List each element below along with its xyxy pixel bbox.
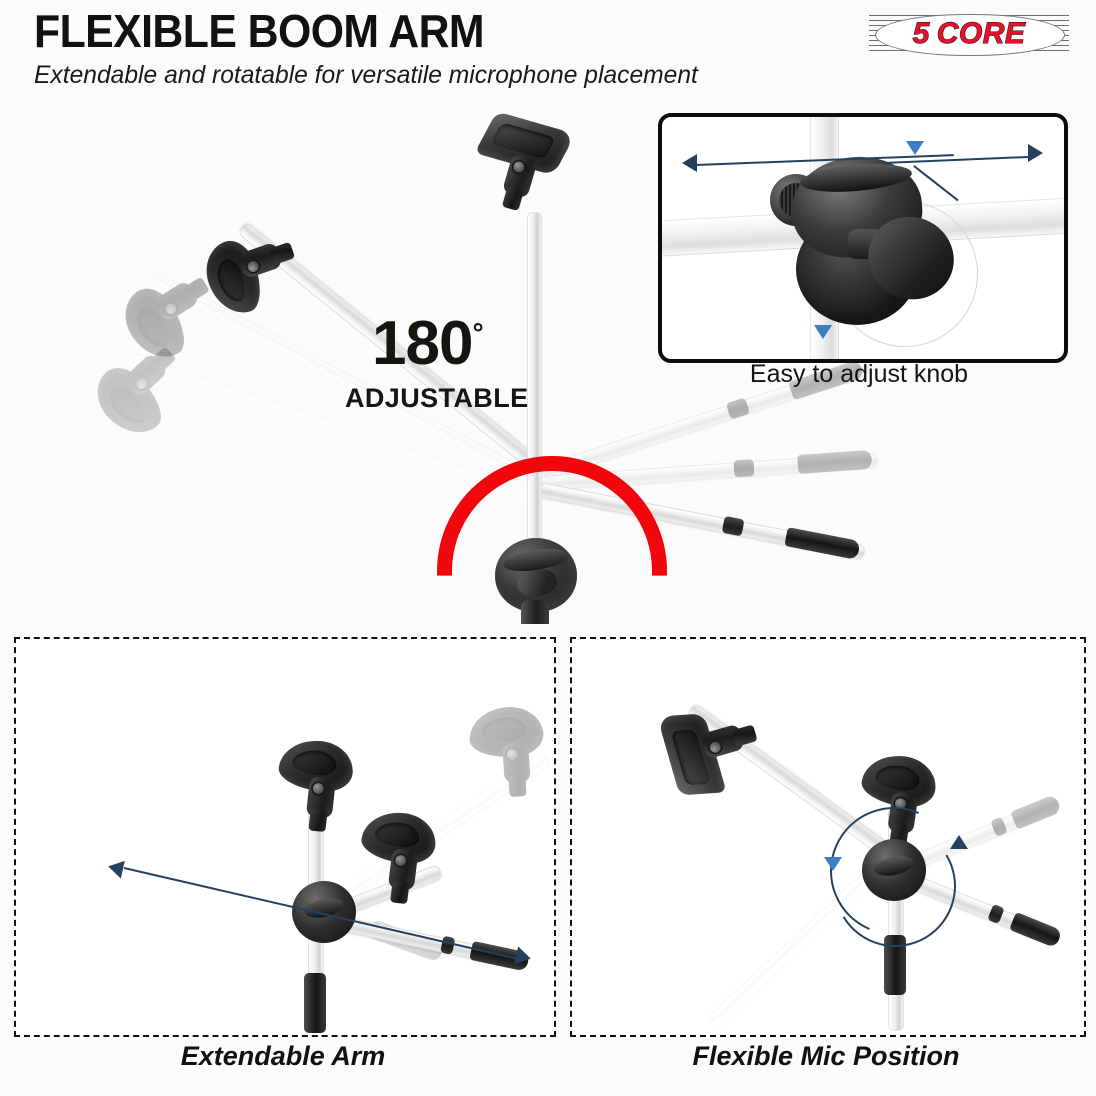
logo-core: CORE	[937, 17, 1026, 51]
inset-arrow-down-head-bottom	[814, 325, 832, 339]
inset-arrow-left-head	[682, 154, 697, 172]
brand-logo: 5 CORE	[869, 12, 1069, 56]
panel1-pole-foot	[304, 973, 326, 1033]
panel2-rotation-arrow-head-down	[824, 857, 842, 871]
inset-arrow-right-head	[1028, 144, 1043, 162]
panel2-rotation-arrow-head-up	[950, 835, 968, 849]
degree-symbol: °	[472, 317, 482, 348]
header: FLEXIBLE BOOM ARM Extendable and rotatab…	[0, 0, 1096, 104]
panel1-extend-arrow-head-left	[106, 858, 125, 879]
panel1-extend-arrow-head-right	[514, 947, 533, 968]
panel1-caption: Extendable Arm	[14, 1036, 552, 1076]
panel-extendable-arm	[14, 637, 556, 1037]
panel-flexible-mic-position	[570, 637, 1086, 1037]
logo-text: 5 CORE	[869, 12, 1069, 56]
inset-arrow-down-head-top	[906, 141, 924, 155]
angle-label: ADJUSTABLE	[345, 383, 529, 414]
knob-detail-inset	[658, 113, 1068, 363]
inset-caption: Easy to adjust knob	[658, 360, 1060, 389]
panel2-caption: Flexible Mic Position	[570, 1036, 1082, 1076]
infographic-page: FLEXIBLE BOOM ARM Extendable and rotatab…	[0, 0, 1096, 1096]
page-title: FLEXIBLE BOOM ARM	[34, 8, 484, 54]
central-clutch-knob	[495, 538, 577, 624]
page-subtitle: Extendable and rotatable for versatile m…	[34, 62, 698, 90]
logo-five: 5	[913, 17, 930, 51]
panel1-clutch	[292, 881, 356, 943]
angle-value: 180°	[372, 313, 483, 375]
